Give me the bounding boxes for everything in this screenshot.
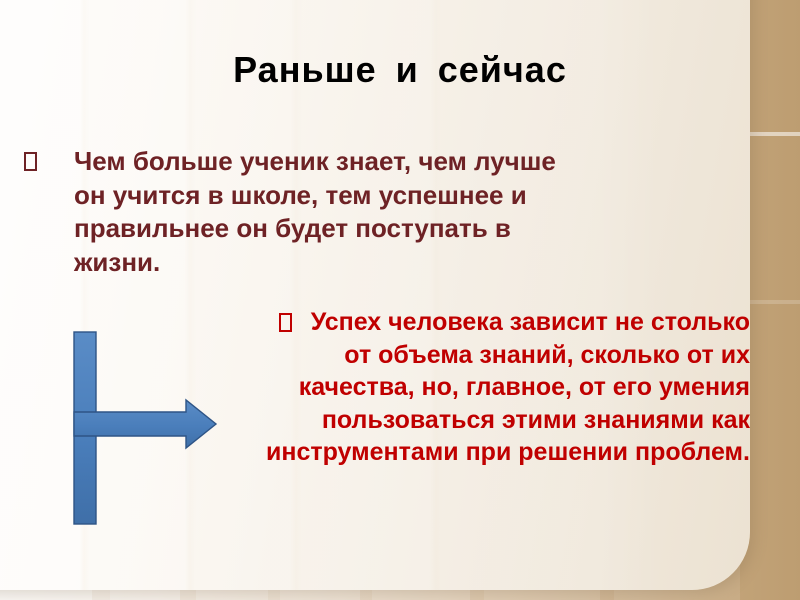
paragraph-first-text: Чем больше ученик знает, чем лучше он уч… — [74, 145, 569, 280]
slide-canvas: Раньше и сейчас Чем больше ученик знает,… — [0, 0, 800, 600]
blue-right-arrow-icon — [66, 328, 224, 528]
square-box-bullet-icon — [279, 313, 292, 332]
paragraph-second: Успех человека зависит не столько от объ… — [250, 306, 750, 469]
paragraph-first: Чем больше ученик знает, чем лучше он уч… — [24, 144, 569, 280]
page-title: Раньше и сейчас — [0, 50, 800, 90]
square-box-bullet-icon — [24, 152, 37, 171]
paragraph-second-text: Успех человека зависит не столько от объ… — [266, 308, 750, 466]
